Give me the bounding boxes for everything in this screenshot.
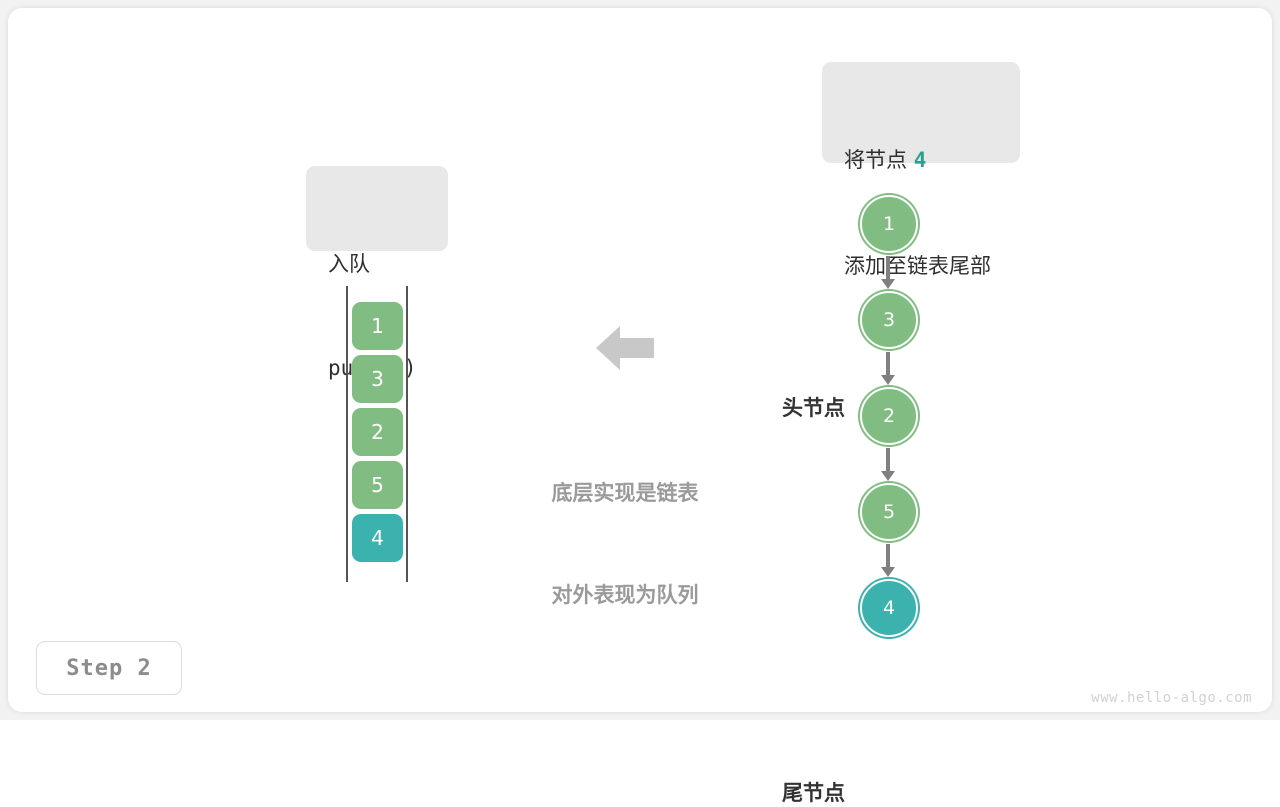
list-node-value: 4 [883, 597, 895, 619]
queue-cell: 5 [352, 461, 403, 509]
link-arrow-icon [881, 375, 895, 385]
queue-rail-right [406, 286, 408, 582]
queue-cell: 3 [352, 355, 403, 403]
list-node: 4 [860, 579, 918, 637]
list-node-value: 5 [883, 501, 895, 523]
queue-cell-value: 5 [371, 473, 384, 497]
callout-push-line1: 入队 [328, 248, 426, 281]
list-node: 3 [860, 291, 918, 349]
caption-line2: 对外表现为队列 [497, 578, 753, 612]
callout-append-line1-prefix: 将节点 [844, 148, 914, 172]
list-node: 5 [860, 483, 918, 541]
callout-append-line1-value: 4 [914, 148, 927, 172]
queue-cell-value: 3 [371, 367, 384, 391]
step-badge: Step 2 [36, 641, 182, 695]
callout-append-line1: 将节点 4 [844, 144, 998, 177]
linked-list: 头节点 尾节点 13254 [770, 180, 990, 650]
queue-cell: 2 [352, 408, 403, 456]
list-node: 2 [860, 387, 918, 445]
link-arrow-icon [881, 471, 895, 481]
link-arrow-icon [881, 567, 895, 577]
list-node-value: 1 [883, 213, 895, 235]
link-line [886, 544, 890, 567]
link-line [886, 352, 890, 375]
link-arrow-icon [881, 279, 895, 289]
queue-column: 13254 [346, 286, 408, 582]
caption-line1: 底层实现是链表 [497, 476, 753, 510]
center-caption: 底层实现是链表 对外表现为队列 [497, 408, 753, 680]
tail-node-label: 尾节点 [782, 777, 845, 807]
watermark: www.hello-algo.com [1091, 690, 1252, 706]
callout-append: 将节点 4 添加至链表尾部 [822, 62, 1020, 163]
head-node-label: 头节点 [782, 392, 845, 422]
link-line [886, 448, 890, 471]
list-node-value: 3 [883, 309, 895, 331]
queue-cell-value: 1 [371, 314, 384, 338]
queue-cell: 4 [352, 514, 403, 562]
list-node: 1 [860, 195, 918, 253]
queue-rail-left [346, 286, 348, 582]
illustration-canvas: 入队 push(4) 将节点 4 添加至链表尾部 13254 底层实现是链表 对… [0, 0, 1280, 720]
link-line [886, 256, 890, 279]
queue-cell-value: 2 [371, 420, 384, 444]
queue-cell: 1 [352, 302, 403, 350]
queue-cell-value: 4 [371, 526, 384, 550]
arrow-left-icon [596, 320, 654, 376]
list-node-value: 2 [883, 405, 895, 427]
callout-push: 入队 push(4) [306, 166, 448, 251]
